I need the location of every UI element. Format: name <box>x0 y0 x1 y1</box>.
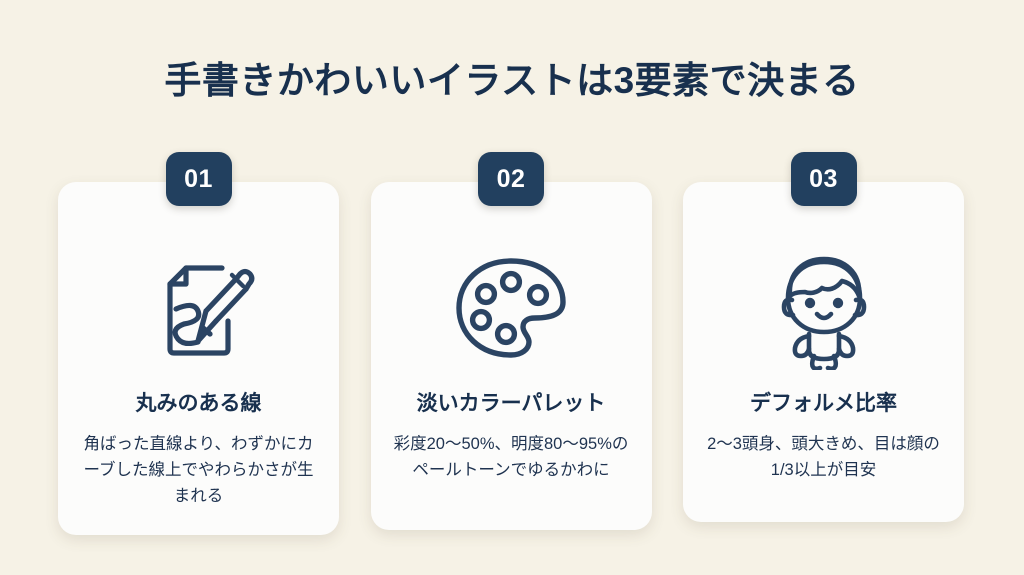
card-row: 01 丸みの <box>58 182 964 535</box>
card-heading: 丸みのある線 <box>136 390 262 417</box>
feature-card-03[interactable]: 03 <box>683 182 964 522</box>
card-number-badge: 03 <box>791 152 857 206</box>
card-number-badge: 02 <box>478 152 544 206</box>
paint-palette-icon <box>450 242 572 374</box>
card-heading: 淡いカラーパレット <box>417 390 606 417</box>
paper-and-pen-icon <box>140 242 258 374</box>
card-body-text: 2〜3頭身、頭大きめ、目は顔の1/3以上が目安 <box>702 431 946 483</box>
page-title: 手書きかわいいイラストは3要素で決まる <box>0 58 1024 104</box>
card-heading: デフォルメ比率 <box>750 390 897 417</box>
card-number-badge: 01 <box>166 152 232 206</box>
card-body-text: 彩度20〜50%、明度80〜95%のペールトーンでゆるかわに <box>389 431 633 483</box>
card-body-text: 角ばった直線より、わずかにカーブした線上でやわらかさが生まれる <box>77 431 321 509</box>
slide-canvas: 手書きかわいいイラストは3要素で決まる 01 <box>0 0 1024 575</box>
feature-card-02[interactable]: 02 淡いカラーパレット 彩度20〜50%、明度80〜95%のペールトーンでゆる… <box>371 182 652 530</box>
chibi-character-icon <box>762 242 886 374</box>
feature-card-01[interactable]: 01 丸みの <box>58 182 339 535</box>
